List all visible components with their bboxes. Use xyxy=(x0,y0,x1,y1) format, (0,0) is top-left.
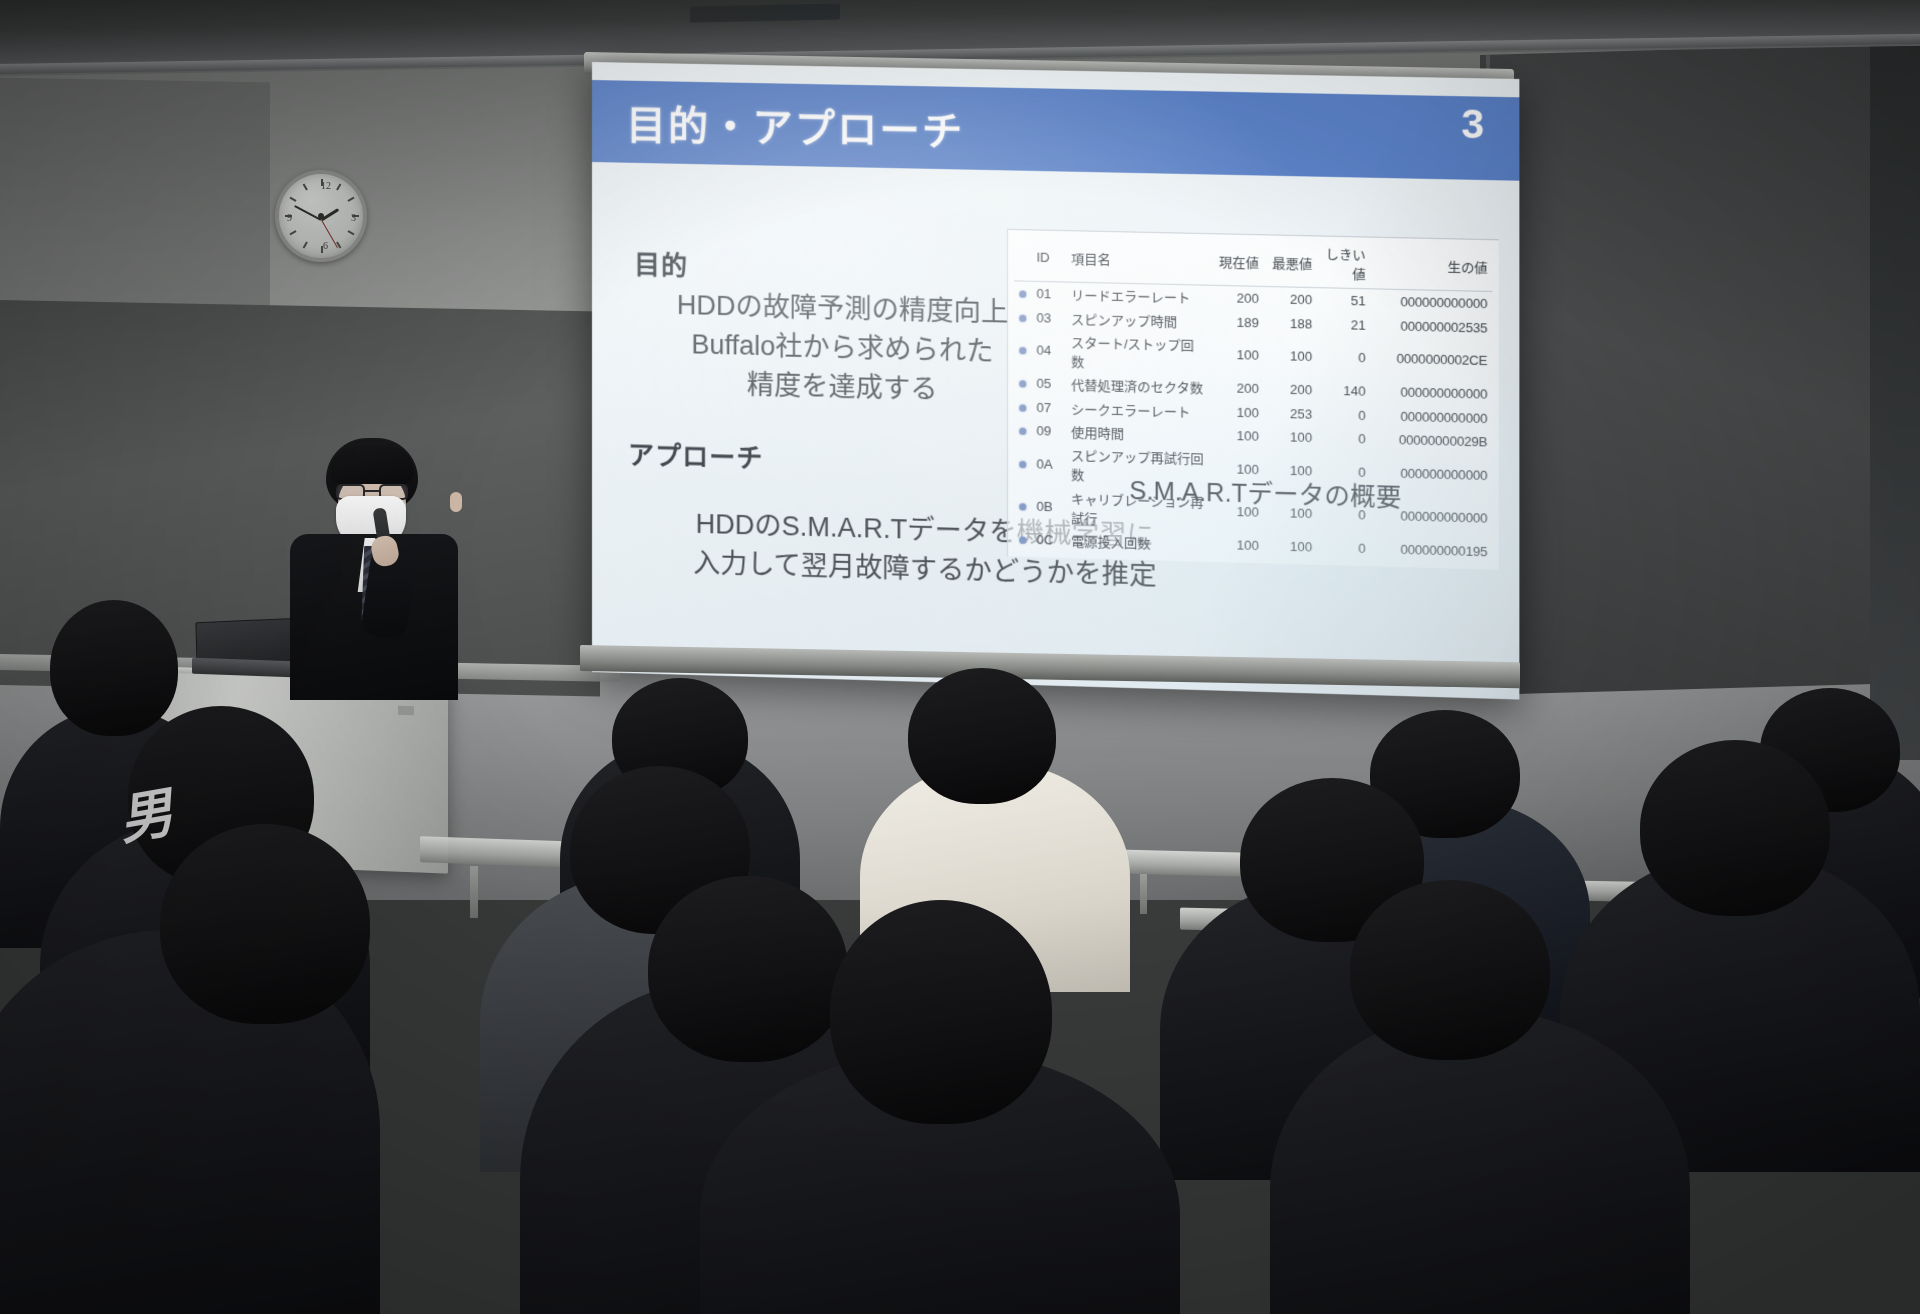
row-threshold: 0 xyxy=(1317,426,1370,451)
audience-head xyxy=(648,876,848,1062)
audience-head xyxy=(908,668,1056,804)
row-bullet-icon xyxy=(1014,442,1031,485)
row-worst: 100 xyxy=(1264,534,1317,559)
row-current: 200 xyxy=(1211,285,1264,310)
audience-head xyxy=(50,600,178,736)
ceiling-vent xyxy=(690,3,840,22)
row-threshold: 21 xyxy=(1317,312,1370,337)
row-name: 代替処理済のセクタ数 xyxy=(1066,372,1211,399)
row-current: 100 xyxy=(1211,333,1264,377)
audience: 男 xyxy=(0,580,1920,1314)
desk-leg-1 xyxy=(470,866,478,918)
purpose-heading: 目的 xyxy=(634,245,688,283)
col-name: 項目名 xyxy=(1066,235,1211,285)
row-worst: 100 xyxy=(1264,425,1317,450)
col-current: 現在値 xyxy=(1211,238,1264,286)
row-raw: 000000002535 xyxy=(1371,313,1493,340)
row-worst: 200 xyxy=(1264,377,1317,402)
row-bullet-icon xyxy=(1014,329,1031,372)
row-bullet-icon xyxy=(1014,281,1031,305)
row-raw: 00000000029B xyxy=(1371,427,1493,454)
row-threshold: 0 xyxy=(1317,336,1370,380)
row-worst: 200 xyxy=(1264,286,1317,311)
lecture-hall-photo: 12 3 6 9 目的・アプローチ 3 目的 HDDの故障予測の精度向上 Buf… xyxy=(0,0,1920,1314)
audience-head xyxy=(830,900,1052,1124)
row-worst: 253 xyxy=(1264,401,1317,426)
row-id: 05 xyxy=(1031,372,1066,396)
row-current: 100 xyxy=(1211,400,1264,425)
approach-heading: アプローチ xyxy=(628,435,763,476)
row-current: 100 xyxy=(1211,423,1264,448)
row-threshold: 0 xyxy=(1317,402,1370,427)
row-id: 09 xyxy=(1031,419,1066,443)
row-raw: 000000000000 xyxy=(1371,289,1493,316)
row-name: シークエラーレート xyxy=(1066,396,1211,423)
row-raw: 000000000000 xyxy=(1371,380,1493,407)
row-raw: 000000000000 xyxy=(1371,403,1493,430)
row-bullet-icon xyxy=(1014,371,1031,395)
row-id: 01 xyxy=(1031,281,1066,306)
wall-panel-upper-left xyxy=(0,78,270,333)
row-worst: 188 xyxy=(1264,311,1317,336)
audience-head xyxy=(1350,880,1550,1060)
row-bullet-icon xyxy=(1014,418,1031,442)
presenter-ear xyxy=(450,492,462,512)
wall-clock: 12 3 6 9 xyxy=(275,170,367,262)
row-current: 189 xyxy=(1211,309,1264,334)
row-threshold: 140 xyxy=(1317,378,1370,403)
row-current: 200 xyxy=(1211,376,1264,401)
row-raw: 000000000195 xyxy=(1371,537,1493,564)
slide-title: 目的・アプローチ xyxy=(626,93,964,158)
row-bullet-icon xyxy=(1014,395,1031,419)
row-name: スタート/ストップ回数 xyxy=(1066,330,1211,376)
presenter-hair-front xyxy=(330,446,414,484)
row-id: 03 xyxy=(1031,305,1066,329)
row-current: 100 xyxy=(1211,533,1264,558)
clock-numeral-3: 3 xyxy=(351,213,356,224)
clock-numeral-6: 6 xyxy=(323,241,328,252)
audience-head xyxy=(160,824,370,1024)
col-id: ID xyxy=(1031,234,1066,282)
purpose-body-text: HDDの故障予測の精度向上 Buffalo社から求められた 精度を達成する xyxy=(626,285,1060,413)
clock-minute-hand xyxy=(294,205,321,221)
clock-numeral-9: 9 xyxy=(287,213,292,224)
row-bullet-icon xyxy=(1014,485,1031,528)
row-name: スピンアップ時間 xyxy=(1066,306,1211,333)
clock-center-cap xyxy=(318,213,324,219)
row-id: 04 xyxy=(1031,329,1066,373)
row-id: 0C xyxy=(1031,528,1066,553)
desk-leg-3 xyxy=(1140,874,1147,914)
row-id: 07 xyxy=(1031,395,1066,419)
row-bullet-icon xyxy=(1014,305,1031,329)
row-worst: 100 xyxy=(1264,334,1317,378)
clock-numeral-12: 12 xyxy=(321,181,331,192)
row-name: 電源投入回数 xyxy=(1066,529,1211,557)
col-dot xyxy=(1014,234,1031,281)
row-threshold: 51 xyxy=(1317,288,1370,313)
slide-page-number: 3 xyxy=(1461,102,1484,148)
row-bullet-icon xyxy=(1014,527,1031,551)
col-threshold: しきい値 xyxy=(1317,241,1370,289)
row-raw: 0000000002CE xyxy=(1371,337,1493,383)
row-name: リードエラーレート xyxy=(1066,282,1211,309)
col-worst: 最悪値 xyxy=(1264,239,1317,287)
row-threshold: 0 xyxy=(1317,535,1370,560)
audience-head xyxy=(1640,740,1830,916)
col-raw: 生の値 xyxy=(1371,242,1493,292)
smart-data-table: ID 項目名 現在値 最悪値 しきい値 生の値 01リードエラーレート20020… xyxy=(1007,229,1499,570)
